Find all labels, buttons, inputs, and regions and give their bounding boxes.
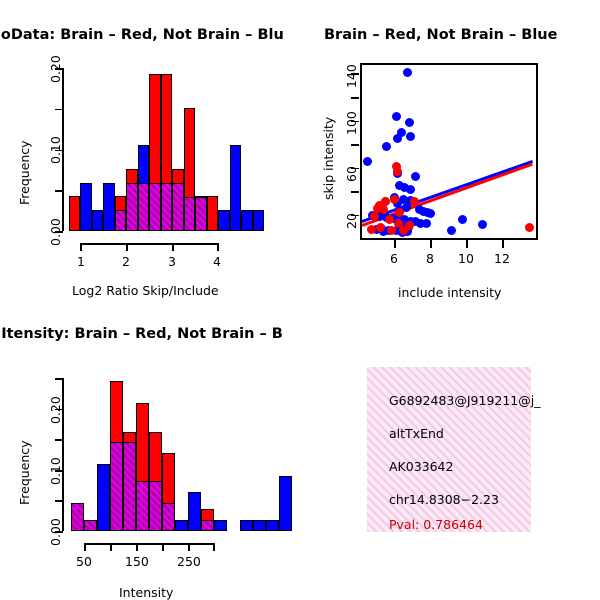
ratio-histogram-xlabel: Log2 Ratio Skip/Include: [72, 283, 219, 298]
panel-intensity-scatter: Brain – Red, Not Brain – Blue skip inten…: [300, 0, 600, 300]
data-point: [370, 212, 379, 221]
bar: [184, 197, 196, 231]
info-line-locus: chr14.8308−2.23: [389, 492, 499, 507]
bar: [172, 183, 184, 231]
scatter-title: Brain – Red, Not Brain – Blue: [324, 27, 557, 43]
data-point: [367, 225, 376, 234]
panel-ratio-histogram: RatioData: Brain – Red, Not Brain – Blu …: [0, 0, 300, 300]
bar: [92, 210, 104, 231]
bar: [175, 520, 188, 531]
bar: [161, 183, 173, 231]
data-point: [406, 185, 415, 194]
bar: [279, 476, 292, 531]
intensity-histogram-xlabel: Intensity: [119, 585, 173, 600]
bar: [240, 520, 253, 531]
data-point: [458, 215, 467, 224]
bar: [188, 492, 201, 531]
bar: [80, 183, 92, 231]
ratio-histogram-bars: [0, 0, 300, 231]
data-point: [385, 215, 394, 224]
bar: [138, 183, 150, 231]
bar: [97, 464, 110, 531]
data-point: [410, 197, 419, 206]
data-point: [363, 157, 372, 166]
info-line-gene-id: G6892483@J919211@j_: [389, 393, 540, 408]
info-line-pval: Pval: 0.786464: [389, 517, 483, 532]
data-point: [399, 226, 408, 235]
data-point: [426, 209, 435, 218]
bar: [214, 520, 227, 531]
data-point: [447, 226, 456, 235]
bar: [230, 145, 242, 231]
data-point: [395, 208, 404, 217]
bar: [162, 503, 175, 531]
bar: [149, 183, 161, 231]
data-point: [403, 68, 412, 77]
bar: [115, 210, 127, 231]
bar: [69, 196, 81, 231]
data-point: [382, 142, 391, 151]
data-point: [379, 205, 388, 214]
bar: [136, 481, 149, 531]
info-line-accession: AK033642: [389, 459, 453, 474]
annotation-info-box: G6892483@J919211@j_ altTxEnd AK033642 ch…: [367, 367, 531, 532]
bar: [149, 481, 162, 531]
bar: [195, 197, 207, 231]
bar: [126, 183, 138, 231]
bar: [103, 183, 115, 231]
data-point: [392, 112, 401, 121]
bar: [253, 210, 265, 231]
data-point: [393, 167, 402, 176]
data-point: [405, 118, 414, 127]
bar: [266, 520, 279, 531]
bar: [241, 210, 253, 231]
bar: [84, 520, 97, 531]
scatter-plot-area: [360, 63, 538, 240]
scatter-xlabel: include intensity: [398, 285, 501, 300]
data-point: [411, 172, 420, 181]
scatter-ylabel: skip intensity: [321, 117, 336, 200]
data-point: [393, 134, 402, 143]
data-point: [390, 195, 399, 204]
bar: [71, 503, 84, 531]
data-point: [478, 220, 487, 229]
bar: [218, 210, 230, 231]
data-point: [525, 223, 534, 232]
panel-intensity-histogram: ne Itensity: Brain – Red, Not Brain – B …: [0, 300, 300, 600]
data-point: [387, 226, 396, 235]
bar: [253, 520, 266, 531]
data-point: [376, 223, 385, 232]
bar: [123, 442, 136, 531]
bar: [207, 196, 219, 231]
data-point: [422, 219, 431, 228]
info-line-event-type: altTxEnd: [389, 426, 444, 441]
data-point: [406, 132, 415, 141]
bar: [201, 520, 214, 531]
bar: [110, 442, 123, 531]
intensity-histogram-bars: [0, 300, 300, 531]
